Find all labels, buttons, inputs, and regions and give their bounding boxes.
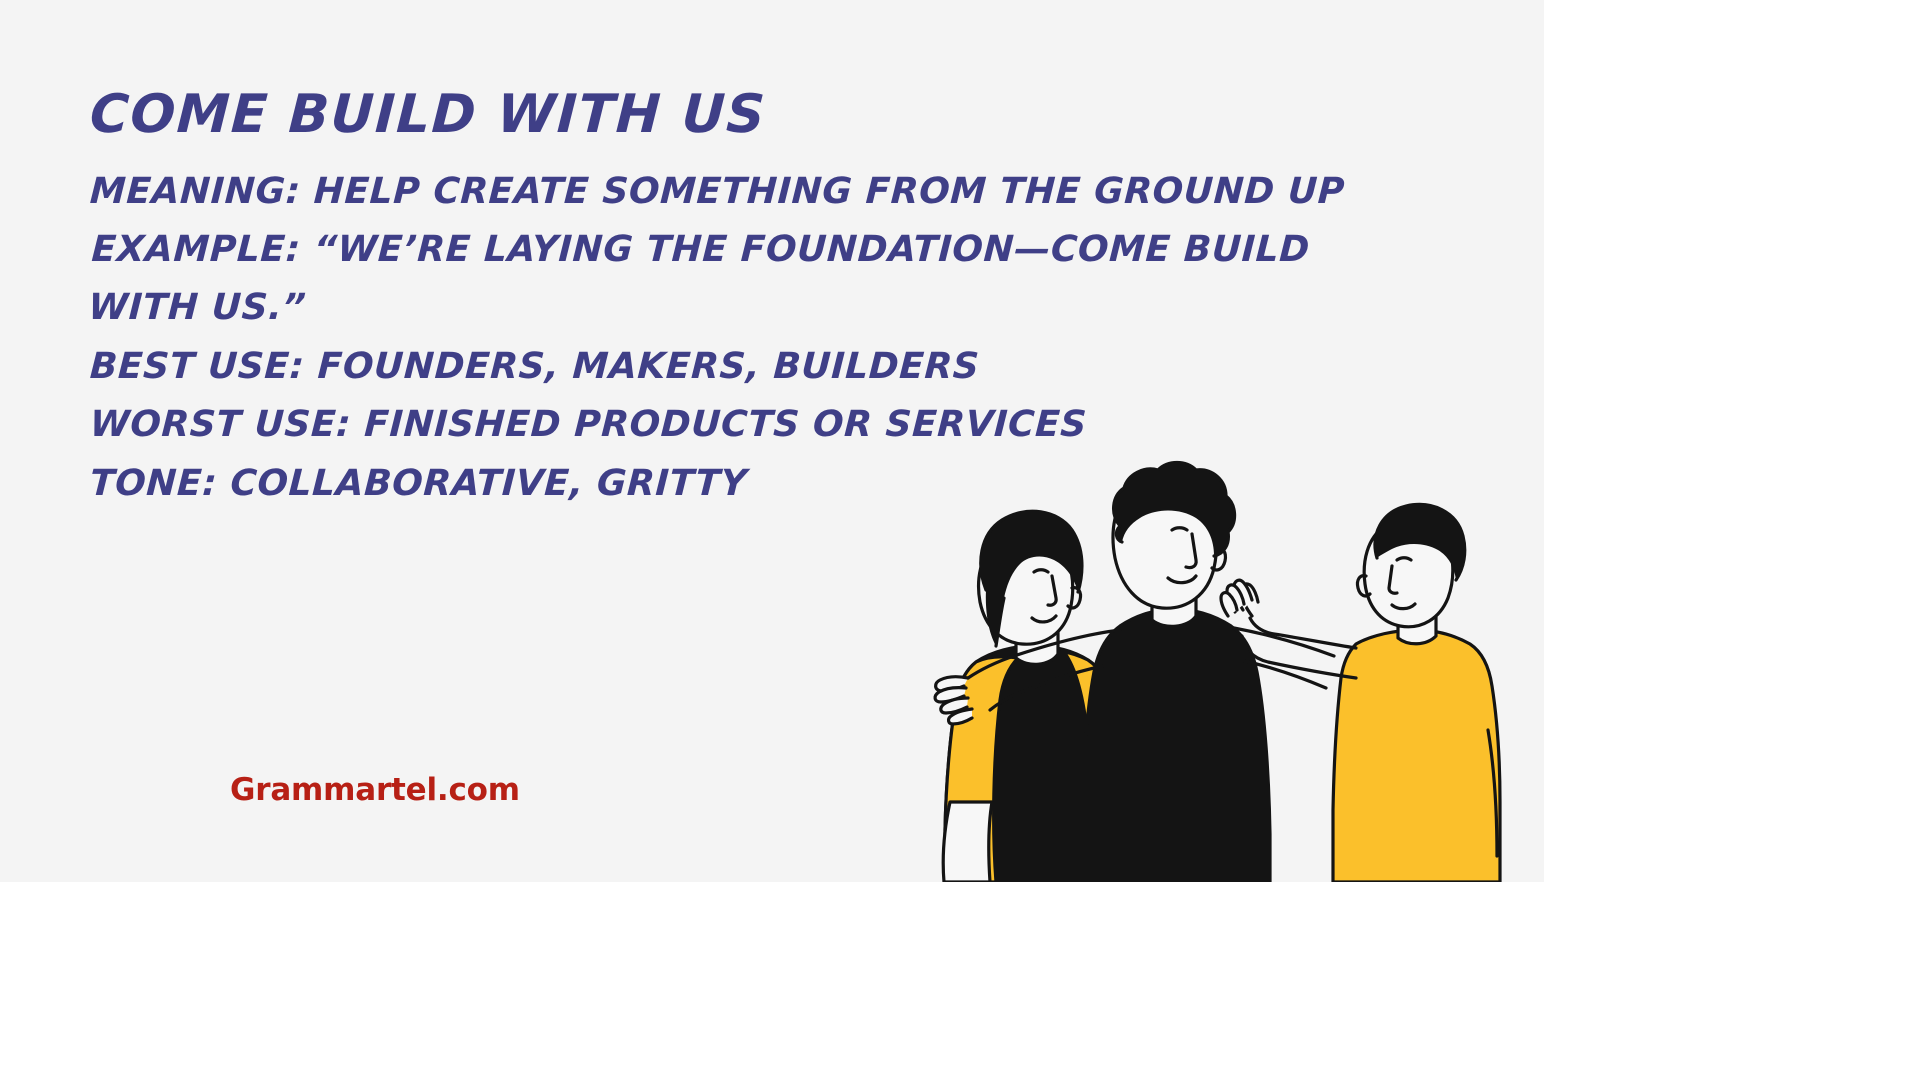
brand-wordmark: Grammartel.com [230,772,520,808]
three-men-illustration [800,430,1544,882]
detail-meaning: MEANING: HELP CREATE SOMETHING FROM THE … [88,163,1401,221]
detail-example: EXAMPLE: “WE’RE LAYING THE FOUNDATION—CO… [87,221,1388,338]
poster-canvas: COME BUILD WITH US MEANING: HELP CREATE … [0,0,1544,882]
detail-best-use: BEST USE: FOUNDERS, MAKERS, BUILDERS [88,338,1401,396]
page-title: COME BUILD WITH US [89,88,1402,141]
